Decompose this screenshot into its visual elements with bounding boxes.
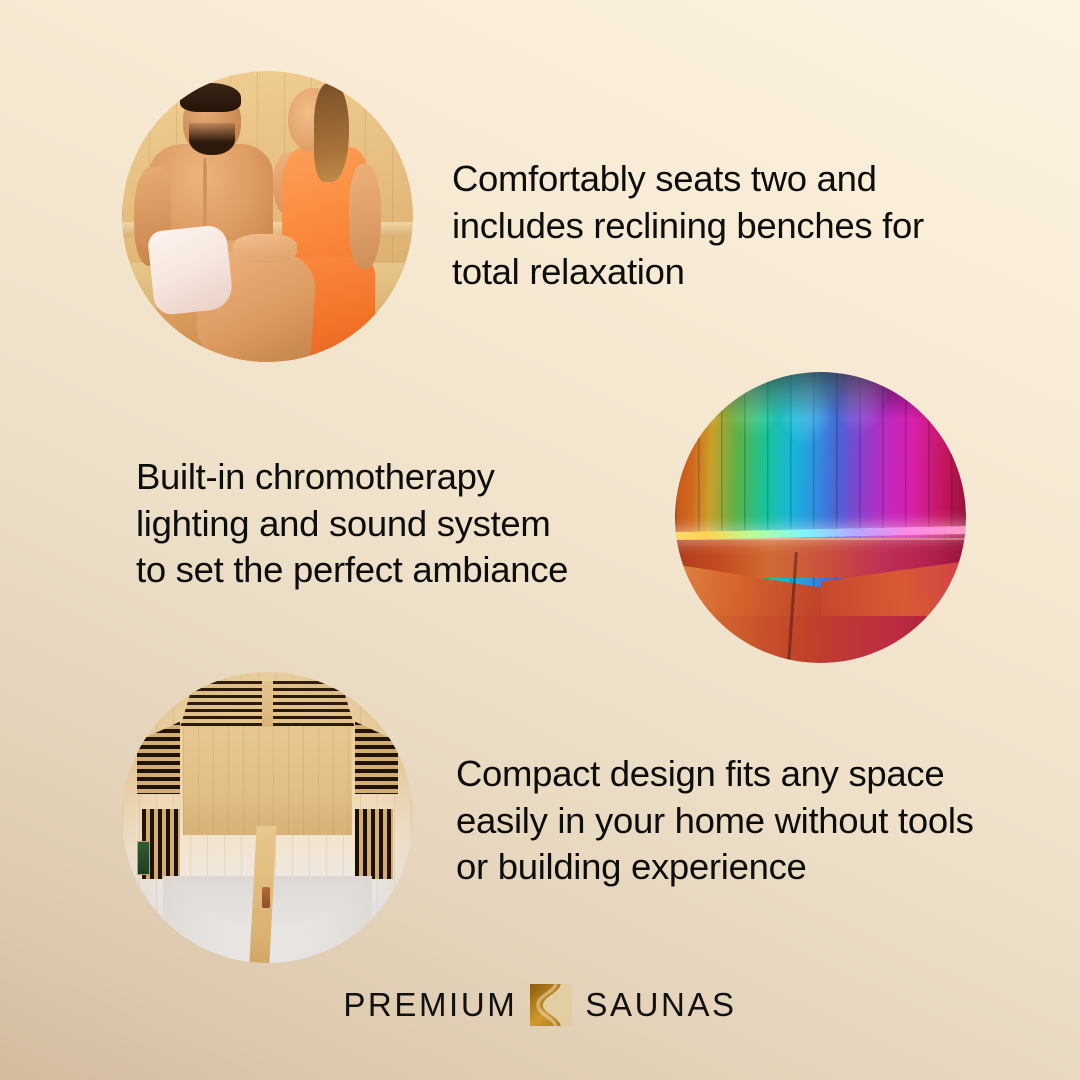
- logo-word-premium: PREMIUM: [343, 986, 517, 1024]
- couple-relaxing-in-sauna-photo: [122, 71, 413, 362]
- photo-inner: [122, 672, 413, 963]
- brand-logo: PREMIUM SAUNAS: [0, 984, 1080, 1026]
- premium-saunas-s-monogram-icon: [530, 984, 572, 1026]
- feature-text-compact-design: Compact design fits any space easily in …: [456, 751, 976, 891]
- feature-text-chromotherapy: Built-in chromotherapy lighting and soun…: [136, 454, 596, 594]
- photo-inner: [122, 71, 413, 362]
- photo-vignette: [122, 672, 413, 963]
- front-bench: [675, 616, 966, 663]
- photo-inner: [675, 372, 966, 663]
- white-towel: [147, 224, 234, 316]
- logo-word-saunas: SAUNAS: [585, 986, 736, 1024]
- infrared-sauna-interior-photo: [122, 672, 413, 963]
- man-hair: [180, 83, 241, 112]
- resting-hands: [233, 234, 297, 263]
- chromotherapy-lit-sauna-photo: [675, 372, 966, 663]
- feature-text-seats: Comfortably seats two and includes recli…: [452, 156, 952, 296]
- ceiling-shadow: [675, 372, 966, 419]
- promo-poster: Comfortably seats two and includes recli…: [0, 0, 1080, 1080]
- woman-hair-front: [314, 83, 349, 182]
- woman-arm: [349, 164, 381, 269]
